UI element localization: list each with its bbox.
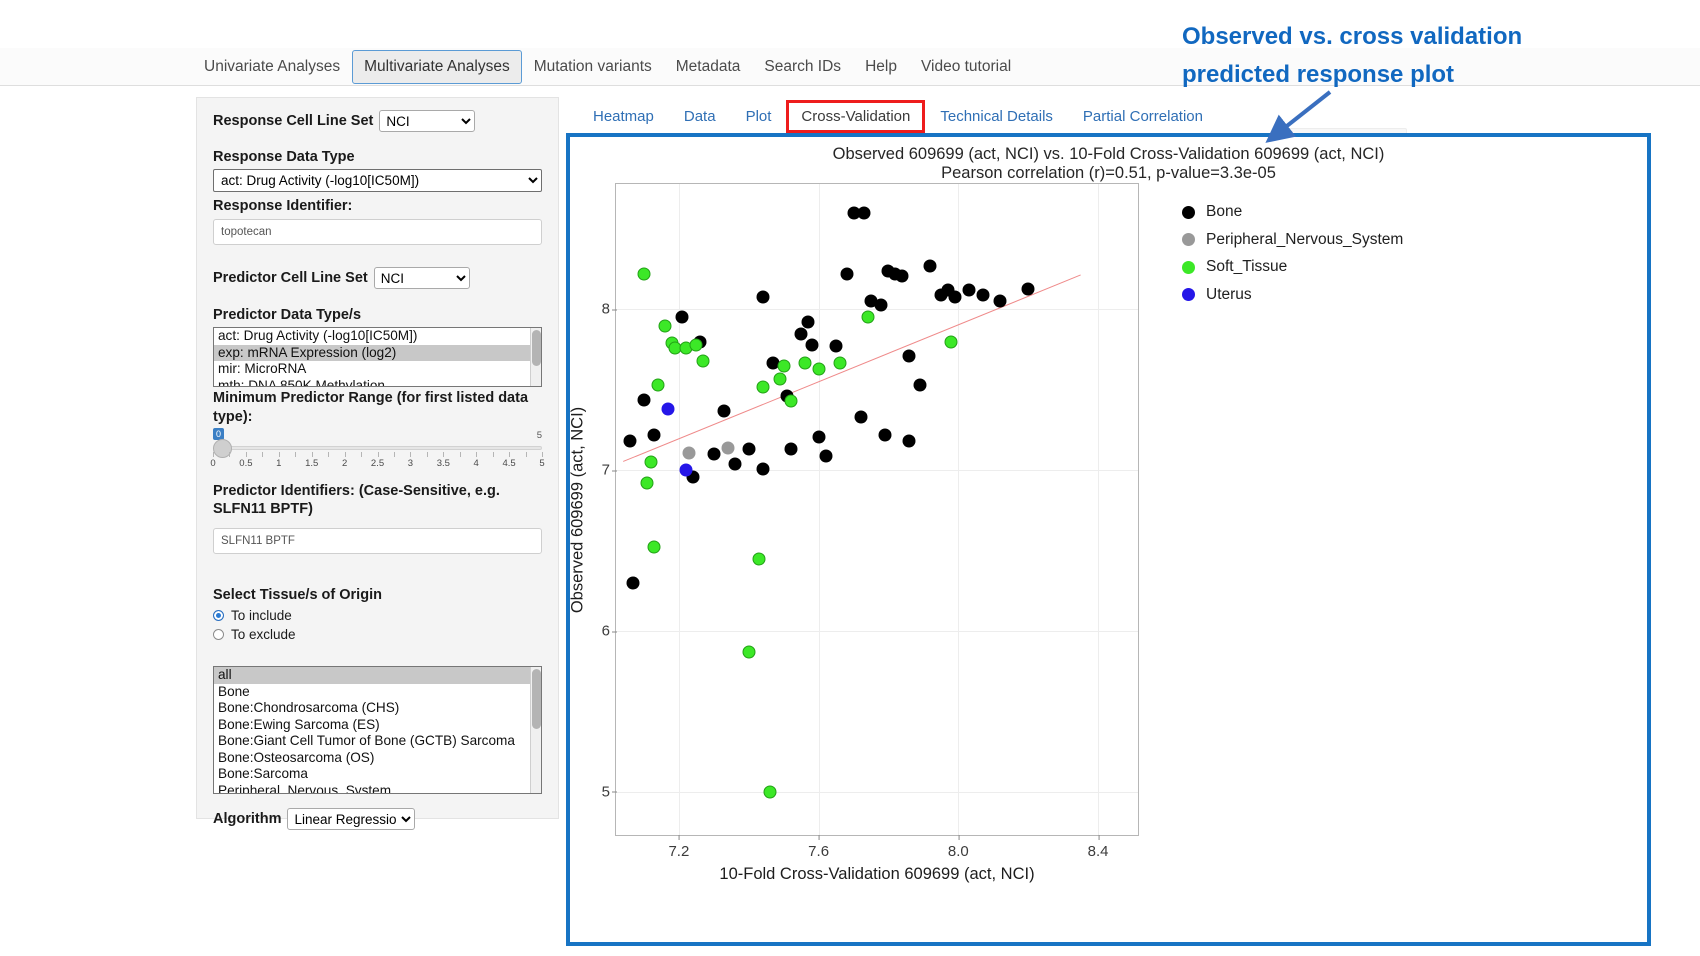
scatter-point	[742, 443, 755, 456]
slider-tick	[262, 452, 263, 457]
nav-tab-video-tutorial[interactable]: Video tutorial	[909, 50, 1023, 83]
slider-tick-label: 0.5	[239, 458, 252, 469]
list-item[interactable]: mir: MicroRNA	[214, 361, 541, 378]
slider-tick	[361, 452, 362, 457]
plot-tab-partial-correlation[interactable]: Partial Correlation	[1068, 100, 1218, 133]
scatter-point	[676, 311, 689, 324]
predictor-cell-line-set-select[interactable]: NCI	[374, 267, 470, 289]
plot-tab-bar: HeatmapDataPlotCross-ValidationTechnical…	[578, 100, 1218, 133]
scatter-point	[648, 541, 661, 554]
legend-item[interactable]: Uterus	[1182, 284, 1403, 307]
y-axis-label: Observed 609699 (act, NCI)	[569, 406, 588, 612]
scatter-point	[805, 338, 818, 351]
list-item[interactable]: Bone:Osteosarcoma (OS)	[214, 750, 541, 767]
scatter-point	[662, 403, 675, 416]
x-axis-tick-label: 8.4	[1088, 843, 1109, 860]
plot-legend: BonePeripheral_Nervous_SystemSoft_Tissue…	[1182, 201, 1403, 311]
list-item[interactable]: Bone:Ewing Sarcoma (ES)	[214, 717, 541, 734]
plot-tab-heatmap[interactable]: Heatmap	[578, 100, 669, 133]
slider-tick-label: 4	[474, 458, 479, 469]
controls-panel: Response Cell Line Set NCI Response Data…	[196, 97, 559, 819]
scatter-point	[658, 319, 671, 332]
tissue-scrollbar[interactable]	[530, 667, 541, 793]
algorithm-row: Algorithm Linear Regression	[213, 808, 542, 830]
slider-tick-label: 3	[408, 458, 413, 469]
scatter-point	[718, 404, 731, 417]
list-item[interactable]: Bone:Chondrosarcoma (CHS)	[214, 700, 541, 717]
scatter-point	[753, 552, 766, 565]
scrollbar-thumb[interactable]	[532, 669, 541, 729]
scatter-point	[707, 448, 720, 461]
scatter-point	[644, 456, 657, 469]
x-axis-tick-label: 7.6	[808, 843, 829, 860]
list-item[interactable]: all	[214, 667, 541, 684]
predictor-data-types-listbox[interactable]: act: Drug Activity (-log10[IC50M])exp: m…	[213, 327, 542, 387]
scatter-point	[802, 316, 815, 329]
response-cell-line-set-row: Response Cell Line Set NCI	[213, 110, 542, 132]
slider-track[interactable]	[213, 446, 542, 450]
x-axis-tick-label: 8.0	[948, 843, 969, 860]
slider-tick-label: 1	[276, 458, 281, 469]
slider-tick	[394, 452, 395, 457]
predictor-cell-line-set-label: Predictor Cell Line Set	[213, 269, 368, 287]
x-axis-tick-label: 7.2	[668, 843, 689, 860]
gridline-vertical	[819, 184, 820, 835]
legend-marker-icon	[1182, 288, 1195, 301]
scatter-point	[756, 462, 769, 475]
slider-tick-labels: 00.511.522.533.544.55	[213, 458, 542, 472]
scatter-point	[854, 411, 867, 424]
slider-value-badge: 0	[213, 428, 224, 440]
list-item[interactable]: Bone:Giant Cell Tumor of Bone (GCTB) Sar…	[214, 733, 541, 750]
predictor-identifiers-label: Predictor Identifiers: (Case-Sensitive, …	[213, 482, 542, 518]
response-cell-line-set-select[interactable]: NCI	[379, 110, 475, 132]
scrollbar-thumb[interactable]	[532, 330, 541, 366]
gridline-vertical	[679, 184, 680, 835]
nav-tab-multivariate-analyses[interactable]: Multivariate Analyses	[352, 50, 522, 83]
scatter-point	[812, 362, 825, 375]
y-axis-tick-label: 7	[602, 462, 610, 479]
scatter-point	[777, 359, 790, 372]
regression-line	[623, 274, 1081, 461]
nav-tab-help[interactable]: Help	[853, 50, 909, 83]
cross-validation-plot-panel: Observed 609699 (act, NCI) vs. 10-Fold C…	[566, 133, 1651, 946]
plot-axes: Observed 609699 (act, NCI) 10-Fold Cross…	[615, 183, 1139, 836]
scatter-point	[833, 356, 846, 369]
scatter-point	[861, 311, 874, 324]
slider-tick-label: 0	[210, 458, 215, 469]
response-cell-line-set-label: Response Cell Line Set	[213, 112, 373, 130]
plot-tab-cross-validation[interactable]: Cross-Validation	[786, 100, 925, 133]
response-identifier-label: Response Identifier:	[213, 197, 542, 215]
list-item[interactable]: mth: DNA 850K Methylation	[214, 378, 541, 388]
slider-tick-label: 1.5	[305, 458, 318, 469]
list-item[interactable]: Bone	[214, 684, 541, 701]
algorithm-select[interactable]: Linear Regression	[287, 808, 415, 830]
plot-tab-plot[interactable]: Plot	[731, 100, 787, 133]
scatter-point	[683, 446, 696, 459]
scatter-point	[875, 298, 888, 311]
legend-item[interactable]: Soft_Tissue	[1182, 256, 1403, 279]
radio-exclude-icon[interactable]	[213, 629, 224, 640]
chart-title: Observed 609699 (act, NCI) vs. 10-Fold C…	[570, 145, 1647, 164]
list-item[interactable]: Peripheral_Nervous_System	[214, 783, 541, 795]
predictor-data-types-label: Predictor Data Type/s	[213, 306, 542, 324]
scatter-point	[903, 350, 916, 363]
scatter-point	[679, 464, 692, 477]
slider-tick	[443, 452, 444, 457]
nav-tab-metadata[interactable]: Metadata	[664, 50, 753, 83]
legend-item[interactable]: Peripheral_Nervous_System	[1182, 229, 1403, 252]
slider-tick	[328, 452, 329, 457]
slider-tick	[427, 452, 428, 457]
plot-tab-data[interactable]: Data	[669, 100, 731, 133]
tissue-include-label: To include	[231, 608, 292, 623]
scatter-point	[858, 206, 871, 219]
scatter-point	[648, 428, 661, 441]
slider-tick	[460, 452, 461, 457]
scatter-point	[784, 395, 797, 408]
tissue-include-radio-row[interactable]: To include	[213, 608, 542, 623]
tissue-of-origin-label: Select Tissue/s of Origin	[213, 586, 542, 604]
legend-item[interactable]: Bone	[1182, 201, 1403, 224]
scatter-point	[962, 284, 975, 297]
gridline-vertical	[1098, 184, 1099, 835]
scatter-point	[641, 477, 654, 490]
scatter-point	[637, 268, 650, 281]
slider-tick-label: 5	[539, 458, 544, 469]
scatter-point	[976, 288, 989, 301]
tissue-exclude-radio-row[interactable]: To exclude	[213, 627, 542, 642]
scatter-point	[721, 441, 734, 454]
x-axis-tick-mark	[819, 835, 820, 840]
scatter-point	[795, 327, 808, 340]
scatter-point	[840, 268, 853, 281]
slider-tick-label: 2.5	[371, 458, 384, 469]
annotation-line-1: Observed vs. cross validation	[1182, 18, 1582, 56]
slider-tick	[229, 452, 230, 457]
scatter-point	[903, 435, 916, 448]
scatter-point	[728, 457, 741, 470]
y-axis-tick-label: 8	[602, 301, 610, 318]
annotation-text: Observed vs. cross validation predicted …	[1182, 18, 1582, 94]
legend-marker-icon	[1182, 206, 1195, 219]
predictor-identifiers-input[interactable]	[213, 528, 542, 554]
slider-tick	[312, 452, 313, 457]
slider-tick	[378, 452, 379, 457]
scatter-point	[623, 435, 636, 448]
y-axis-tick-label: 5	[602, 783, 610, 800]
scatter-point	[913, 379, 926, 392]
scatter-point	[924, 260, 937, 273]
list-item[interactable]: exp: mRNA Expression (log2)	[214, 345, 541, 362]
x-axis-tick-mark	[1098, 835, 1099, 840]
slider-tick-label: 2	[342, 458, 347, 469]
chart-subtitle: Pearson correlation (r)=0.51, p-value=3.…	[570, 164, 1647, 183]
legend-label: Bone	[1206, 203, 1242, 221]
scatter-point	[763, 785, 776, 798]
slider-tick	[345, 452, 346, 457]
algorithm-label: Algorithm	[213, 810, 281, 828]
slider-tick	[295, 452, 296, 457]
slider-tick	[526, 452, 527, 457]
scatter-point	[878, 428, 891, 441]
y-axis-tick-mark	[612, 631, 617, 632]
legend-marker-icon	[1182, 261, 1195, 274]
slider-max-label: 5	[537, 430, 542, 441]
slider-tick	[542, 452, 543, 457]
nav-tab-univariate-analyses[interactable]: Univariate Analyses	[192, 50, 352, 83]
y-axis-tick-mark	[612, 309, 617, 310]
scatter-point	[651, 379, 664, 392]
gridline-vertical	[958, 184, 959, 835]
slider-tick	[509, 452, 510, 457]
nav-tab-search-ids[interactable]: Search IDs	[752, 50, 853, 83]
slider-tick	[410, 452, 411, 457]
scatter-point	[742, 646, 755, 659]
tissue-options-listbox[interactable]: allBoneBone:Chondrosarcoma (CHS)Bone:Ewi…	[213, 666, 542, 794]
slider-tick	[279, 452, 280, 457]
gridline-horizontal	[616, 631, 1138, 632]
scatter-point	[1022, 282, 1035, 295]
y-axis-tick-mark	[612, 792, 617, 793]
slider-tick-label: 3.5	[437, 458, 450, 469]
legend-marker-icon	[1182, 233, 1195, 246]
legend-label: Peripheral_Nervous_System	[1206, 231, 1403, 249]
scatter-point	[819, 449, 832, 462]
response-identifier-input[interactable]	[213, 219, 542, 245]
minimum-predictor-range-slider[interactable]: 0 5 00.511.522.533.544.55	[213, 428, 542, 474]
scatter-point	[945, 335, 958, 348]
predictor-cell-line-set-row: Predictor Cell Line Set NCI	[213, 267, 542, 289]
tissue-exclude-label: To exclude	[231, 627, 296, 642]
slider-tick	[476, 452, 477, 457]
scatter-point	[798, 356, 811, 369]
x-axis-label: 10-Fold Cross-Validation 609699 (act, NC…	[616, 865, 1138, 884]
scatter-point	[896, 269, 909, 282]
main-nav-tabs: Univariate AnalysesMultivariate Analyses…	[192, 48, 1023, 86]
list-item[interactable]: act: Drug Activity (-log10[IC50M])	[214, 328, 541, 345]
annotation-arrow-icon	[1262, 88, 1342, 148]
scatter-point	[774, 372, 787, 385]
y-axis-tick-label: 6	[602, 623, 610, 640]
scatter-point	[756, 380, 769, 393]
nav-tab-mutation-variants[interactable]: Mutation variants	[522, 50, 664, 83]
response-data-type-label: Response Data Type	[213, 148, 542, 166]
scatter-point	[812, 430, 825, 443]
response-data-type-select[interactable]: act: Drug Activity (-log10[IC50M])	[213, 169, 542, 192]
gridline-horizontal	[616, 792, 1138, 793]
scatter-point	[784, 443, 797, 456]
plot-tab-technical-details[interactable]: Technical Details	[925, 100, 1068, 133]
slider-tick	[213, 452, 214, 457]
scatter-point	[627, 576, 640, 589]
legend-label: Uterus	[1206, 286, 1252, 304]
scatter-point	[637, 393, 650, 406]
predictor-data-types-scrollbar[interactable]	[530, 328, 541, 386]
slider-tick	[246, 452, 247, 457]
scatter-point	[994, 295, 1007, 308]
slider-tick-label: 4.5	[502, 458, 515, 469]
slider-tick	[493, 452, 494, 457]
y-axis-tick-mark	[612, 470, 617, 471]
scatter-point	[948, 290, 961, 303]
scatter-point	[830, 340, 843, 353]
list-item[interactable]: Bone:Sarcoma	[214, 766, 541, 783]
legend-label: Soft_Tissue	[1206, 258, 1287, 276]
scatter-point	[690, 338, 703, 351]
annotation-line-2: predicted response plot	[1182, 56, 1582, 94]
x-axis-tick-mark	[679, 835, 680, 840]
minimum-predictor-range-label: Minimum Predictor Range (for first liste…	[213, 389, 542, 425]
radio-include-icon[interactable]	[213, 610, 224, 621]
x-axis-tick-mark	[958, 835, 959, 840]
scatter-point	[756, 290, 769, 303]
scatter-point	[697, 354, 710, 367]
